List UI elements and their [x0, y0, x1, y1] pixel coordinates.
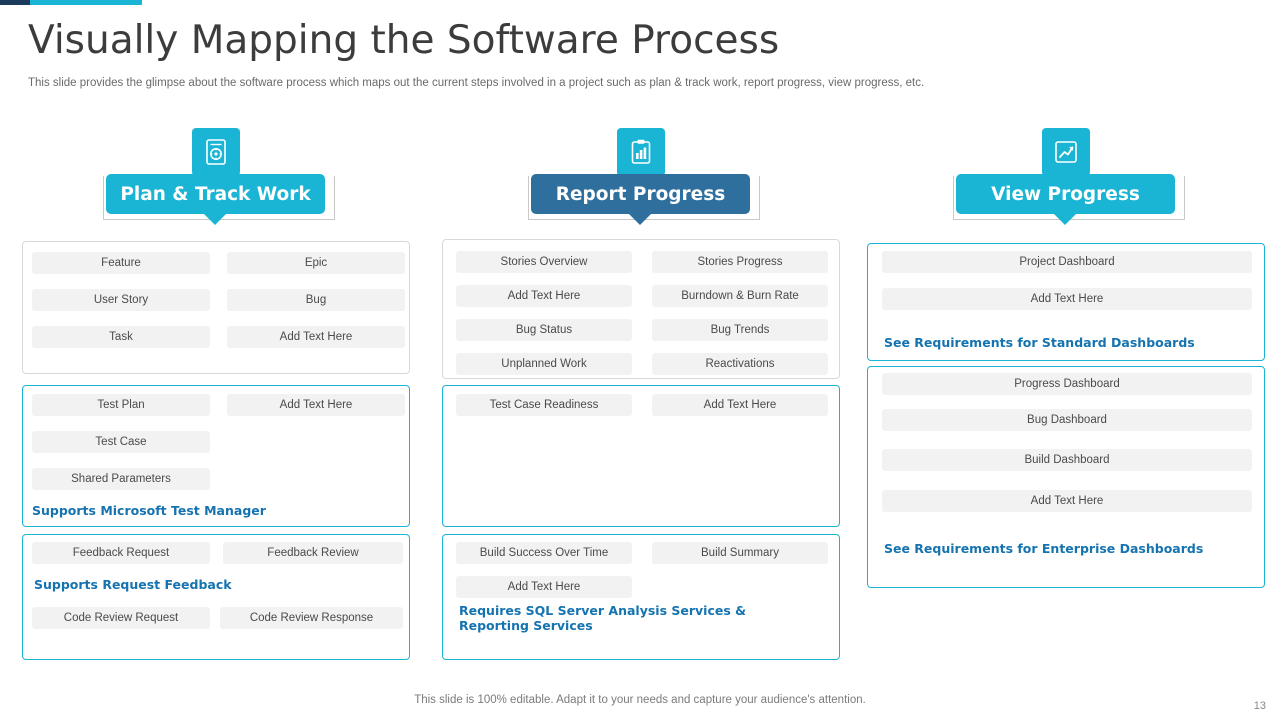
- chip-add-text-here[interactable]: Add Text Here: [456, 285, 632, 307]
- card-test-management: Test Plan Add Text Here Test Case Shared…: [22, 385, 410, 527]
- chip-add-text-here[interactable]: Add Text Here: [882, 490, 1252, 512]
- document-gear-icon: [192, 128, 240, 176]
- chart-growth-icon: [1042, 128, 1090, 176]
- chip-bug-status[interactable]: Bug Status: [456, 319, 632, 341]
- chip-build-dashboard[interactable]: Build Dashboard: [882, 449, 1252, 471]
- chip-reactivations[interactable]: Reactivations: [652, 353, 828, 375]
- note-supports-microsoft-test-manager: Supports Microsoft Test Manager: [32, 503, 266, 518]
- pointer-1: [204, 214, 226, 225]
- chip-feedback-review[interactable]: Feedback Review: [223, 542, 403, 564]
- chip-add-text-here[interactable]: Add Text Here: [652, 394, 828, 416]
- card-standard-dashboards: Project Dashboard Add Text Here See Requ…: [867, 243, 1265, 361]
- chip-code-review-response[interactable]: Code Review Response: [220, 607, 403, 629]
- column-header-view-progress[interactable]: View Progress: [956, 174, 1175, 214]
- pointer-2: [629, 214, 651, 225]
- chip-bug-trends[interactable]: Bug Trends: [652, 319, 828, 341]
- card-builds: Build Success Over Time Build Summary Ad…: [442, 534, 840, 660]
- chip-epic[interactable]: Epic: [227, 252, 405, 274]
- card-work-items: Feature Epic User Story Bug Task Add Tex…: [22, 241, 410, 374]
- chip-add-text-here[interactable]: Add Text Here: [227, 326, 405, 348]
- chip-test-case-readiness[interactable]: Test Case Readiness: [456, 394, 632, 416]
- note-supports-request-feedback: Supports Request Feedback: [34, 577, 232, 592]
- chip-user-story[interactable]: User Story: [32, 289, 210, 311]
- column-header-plan-track-work[interactable]: Plan & Track Work: [106, 174, 325, 214]
- note-see-requirements-enterprise-dashboards: See Requirements for Enterprise Dashboar…: [884, 541, 1203, 556]
- chip-add-text-here[interactable]: Add Text Here: [227, 394, 405, 416]
- chip-shared-parameters[interactable]: Shared Parameters: [32, 468, 210, 490]
- column-header-report-progress[interactable]: Report Progress: [531, 174, 750, 214]
- chip-add-text-here[interactable]: Add Text Here: [882, 288, 1252, 310]
- chip-task[interactable]: Task: [32, 326, 210, 348]
- chip-feature[interactable]: Feature: [32, 252, 210, 274]
- slide-footer: This slide is 100% editable. Adapt it to…: [0, 694, 1280, 706]
- accent-bar-cyan: [30, 0, 142, 5]
- chip-bug[interactable]: Bug: [227, 289, 405, 311]
- chip-progress-dashboard[interactable]: Progress Dashboard: [882, 373, 1252, 395]
- chip-stories-progress[interactable]: Stories Progress: [652, 251, 828, 273]
- chip-unplanned-work[interactable]: Unplanned Work: [456, 353, 632, 375]
- chip-add-text-here[interactable]: Add Text Here: [456, 576, 632, 598]
- page-title: Visually Mapping the Software Process: [28, 18, 779, 63]
- chip-bug-dashboard[interactable]: Bug Dashboard: [882, 409, 1252, 431]
- clipboard-report-icon: [617, 128, 665, 176]
- chip-test-case[interactable]: Test Case: [32, 431, 210, 453]
- chip-test-plan[interactable]: Test Plan: [32, 394, 210, 416]
- chip-code-review-request[interactable]: Code Review Request: [32, 607, 210, 629]
- card-enterprise-dashboards: Progress Dashboard Bug Dashboard Build D…: [867, 366, 1265, 588]
- card-stories-bugs: Stories Overview Stories Progress Add Te…: [442, 239, 840, 379]
- pointer-3: [1054, 214, 1076, 225]
- note-requires-sql-server-analysis-services: Requires SQL Server Analysis Services & …: [459, 603, 759, 633]
- card-feedback: Feedback Request Feedback Review Support…: [22, 534, 410, 660]
- chip-feedback-request[interactable]: Feedback Request: [32, 542, 210, 564]
- page-number: 13: [1254, 700, 1266, 712]
- card-test-readiness: Test Case Readiness Add Text Here: [442, 385, 840, 527]
- slide-canvas: Visually Mapping the Software Process Th…: [0, 0, 1280, 720]
- chip-build-summary[interactable]: Build Summary: [652, 542, 828, 564]
- chip-build-success-over-time[interactable]: Build Success Over Time: [456, 542, 632, 564]
- chip-burndown-burn-rate[interactable]: Burndown & Burn Rate: [652, 285, 828, 307]
- chip-stories-overview[interactable]: Stories Overview: [456, 251, 632, 273]
- note-see-requirements-standard-dashboards: See Requirements for Standard Dashboards: [884, 335, 1195, 350]
- page-subtitle: This slide provides the glimpse about th…: [28, 77, 924, 89]
- chip-project-dashboard[interactable]: Project Dashboard: [882, 251, 1252, 273]
- accent-bar-dark: [0, 0, 30, 5]
